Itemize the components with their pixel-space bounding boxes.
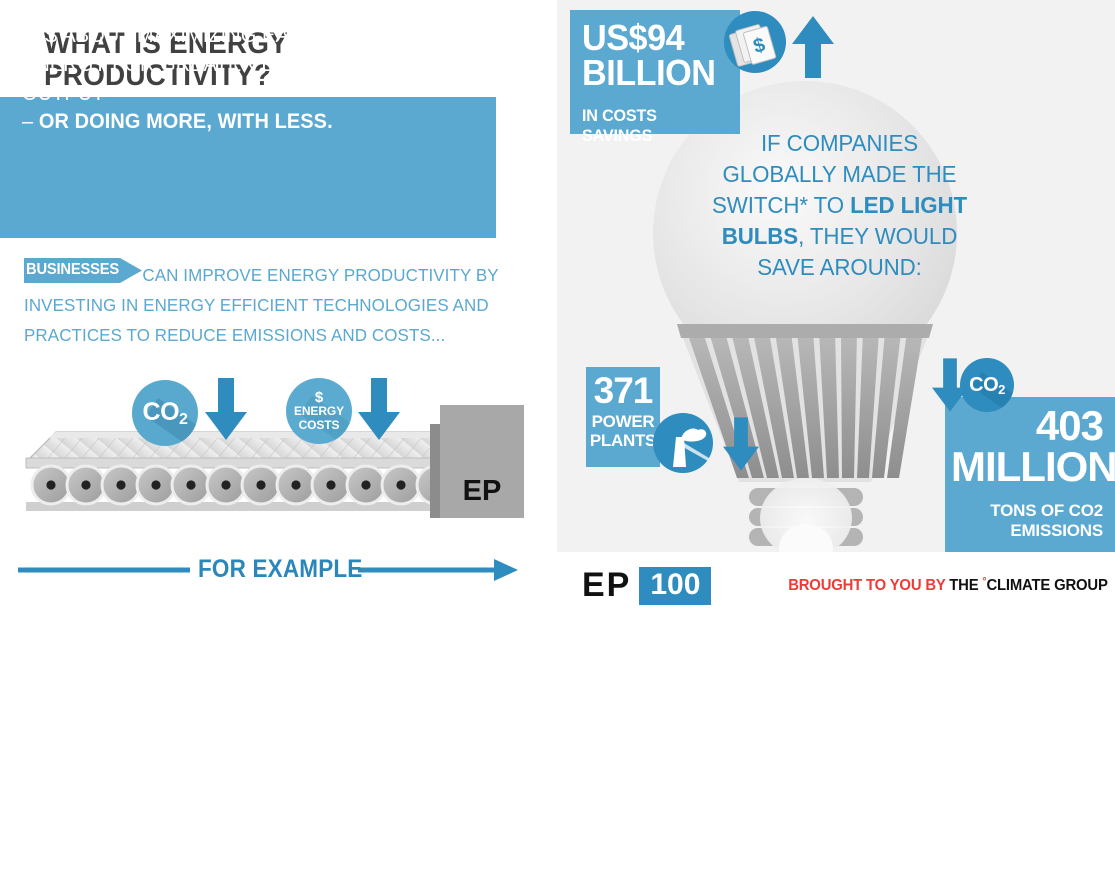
for-example-label: FOR EXAMPLE bbox=[198, 555, 363, 584]
co2-emissions-stat-box: 403MILLION TONS OF CO2EMISSIONS bbox=[945, 397, 1115, 552]
down-arrow-icon bbox=[205, 378, 247, 440]
credit-brand-pre: THE bbox=[949, 577, 982, 594]
businesses-label: BUSINESSES bbox=[26, 261, 111, 279]
cost-badge-label: $ ENERGY COSTS bbox=[294, 390, 344, 432]
co2-badge-label: CO2 bbox=[969, 374, 1005, 397]
power-plants-stat-box: 371 POWERPLANTS bbox=[586, 367, 660, 467]
co2-emissions-caption: TONS OF CO2EMISSIONS bbox=[951, 501, 1103, 540]
right-panel: US$94BILLION IN COSTS SAVINGS $ IF COMPA… bbox=[557, 0, 1115, 630]
down-arrow-icon bbox=[932, 358, 968, 412]
definition-text: IT’S ABOUT MAXIMIZING EACH UNIT OF ENERG… bbox=[22, 22, 459, 137]
down-arrow-icon bbox=[723, 417, 759, 471]
definition-line-2: ENERGY FOR GREATER ECONOMIC OUTPUT bbox=[22, 53, 372, 105]
ep-box-label: EP bbox=[440, 475, 524, 508]
co2-badge: CO2 bbox=[960, 358, 1014, 412]
ep100-number: 100 bbox=[639, 567, 711, 605]
credit-prefix: BROUGHT TO YOU BY bbox=[788, 577, 945, 594]
cost-savings-amount: US$94BILLION bbox=[582, 20, 728, 91]
power-plants-number: 371 bbox=[586, 372, 660, 409]
up-arrow-icon bbox=[792, 16, 834, 78]
definition-line-3-prefix: – bbox=[22, 110, 39, 133]
co2-badge-label: CO2 bbox=[143, 398, 188, 429]
down-arrow-icon bbox=[358, 378, 400, 440]
businesses-arrow-tag: BUSINESSES bbox=[24, 258, 142, 283]
co2-reduction-badge: CO2 bbox=[132, 380, 198, 446]
ep-output-box: EP bbox=[440, 405, 524, 518]
credit-line: BROUGHT TO YOU BY THE °CLIMATE GROUP bbox=[788, 576, 1105, 595]
power-plant-icon bbox=[653, 413, 713, 473]
energy-costs-badge: $ ENERGY COSTS bbox=[286, 378, 352, 444]
credit-brand-post: CLIMATE GROUP bbox=[986, 577, 1107, 594]
footer: EP 100 BROUGHT TO YOU BY THE °CLIMATE GR… bbox=[557, 552, 1115, 630]
conveyor-rollers bbox=[32, 466, 455, 504]
money-banknotes-icon: $ bbox=[724, 11, 786, 73]
left-panel: WHAT IS ENERGY PRODUCTIVITY? IT’S ABOUT … bbox=[0, 0, 557, 630]
ep100-logo[interactable]: EP 100 bbox=[582, 566, 711, 605]
power-plants-caption: POWERPLANTS bbox=[586, 413, 660, 450]
definition-line-3-emphasis: OR DOING MORE, WITH LESS. bbox=[39, 110, 333, 133]
cost-savings-stat-box: US$94BILLION IN COSTS SAVINGS bbox=[570, 10, 740, 134]
ep100-mark: EP bbox=[582, 566, 631, 605]
led-switch-statement: IF COMPANIES GLOBALLY MADE THE SWITCH* T… bbox=[701, 128, 977, 283]
up-arrow-icon bbox=[908, 829, 940, 885]
definition-line-1: IT’S ABOUT MAXIMIZING EACH UNIT OF bbox=[22, 24, 404, 47]
infographic-canvas: WHAT IS ENERGY PRODUCTIVITY? IT’S ABOUT … bbox=[0, 0, 1115, 630]
co2-emissions-number: 403MILLION bbox=[951, 405, 1103, 487]
